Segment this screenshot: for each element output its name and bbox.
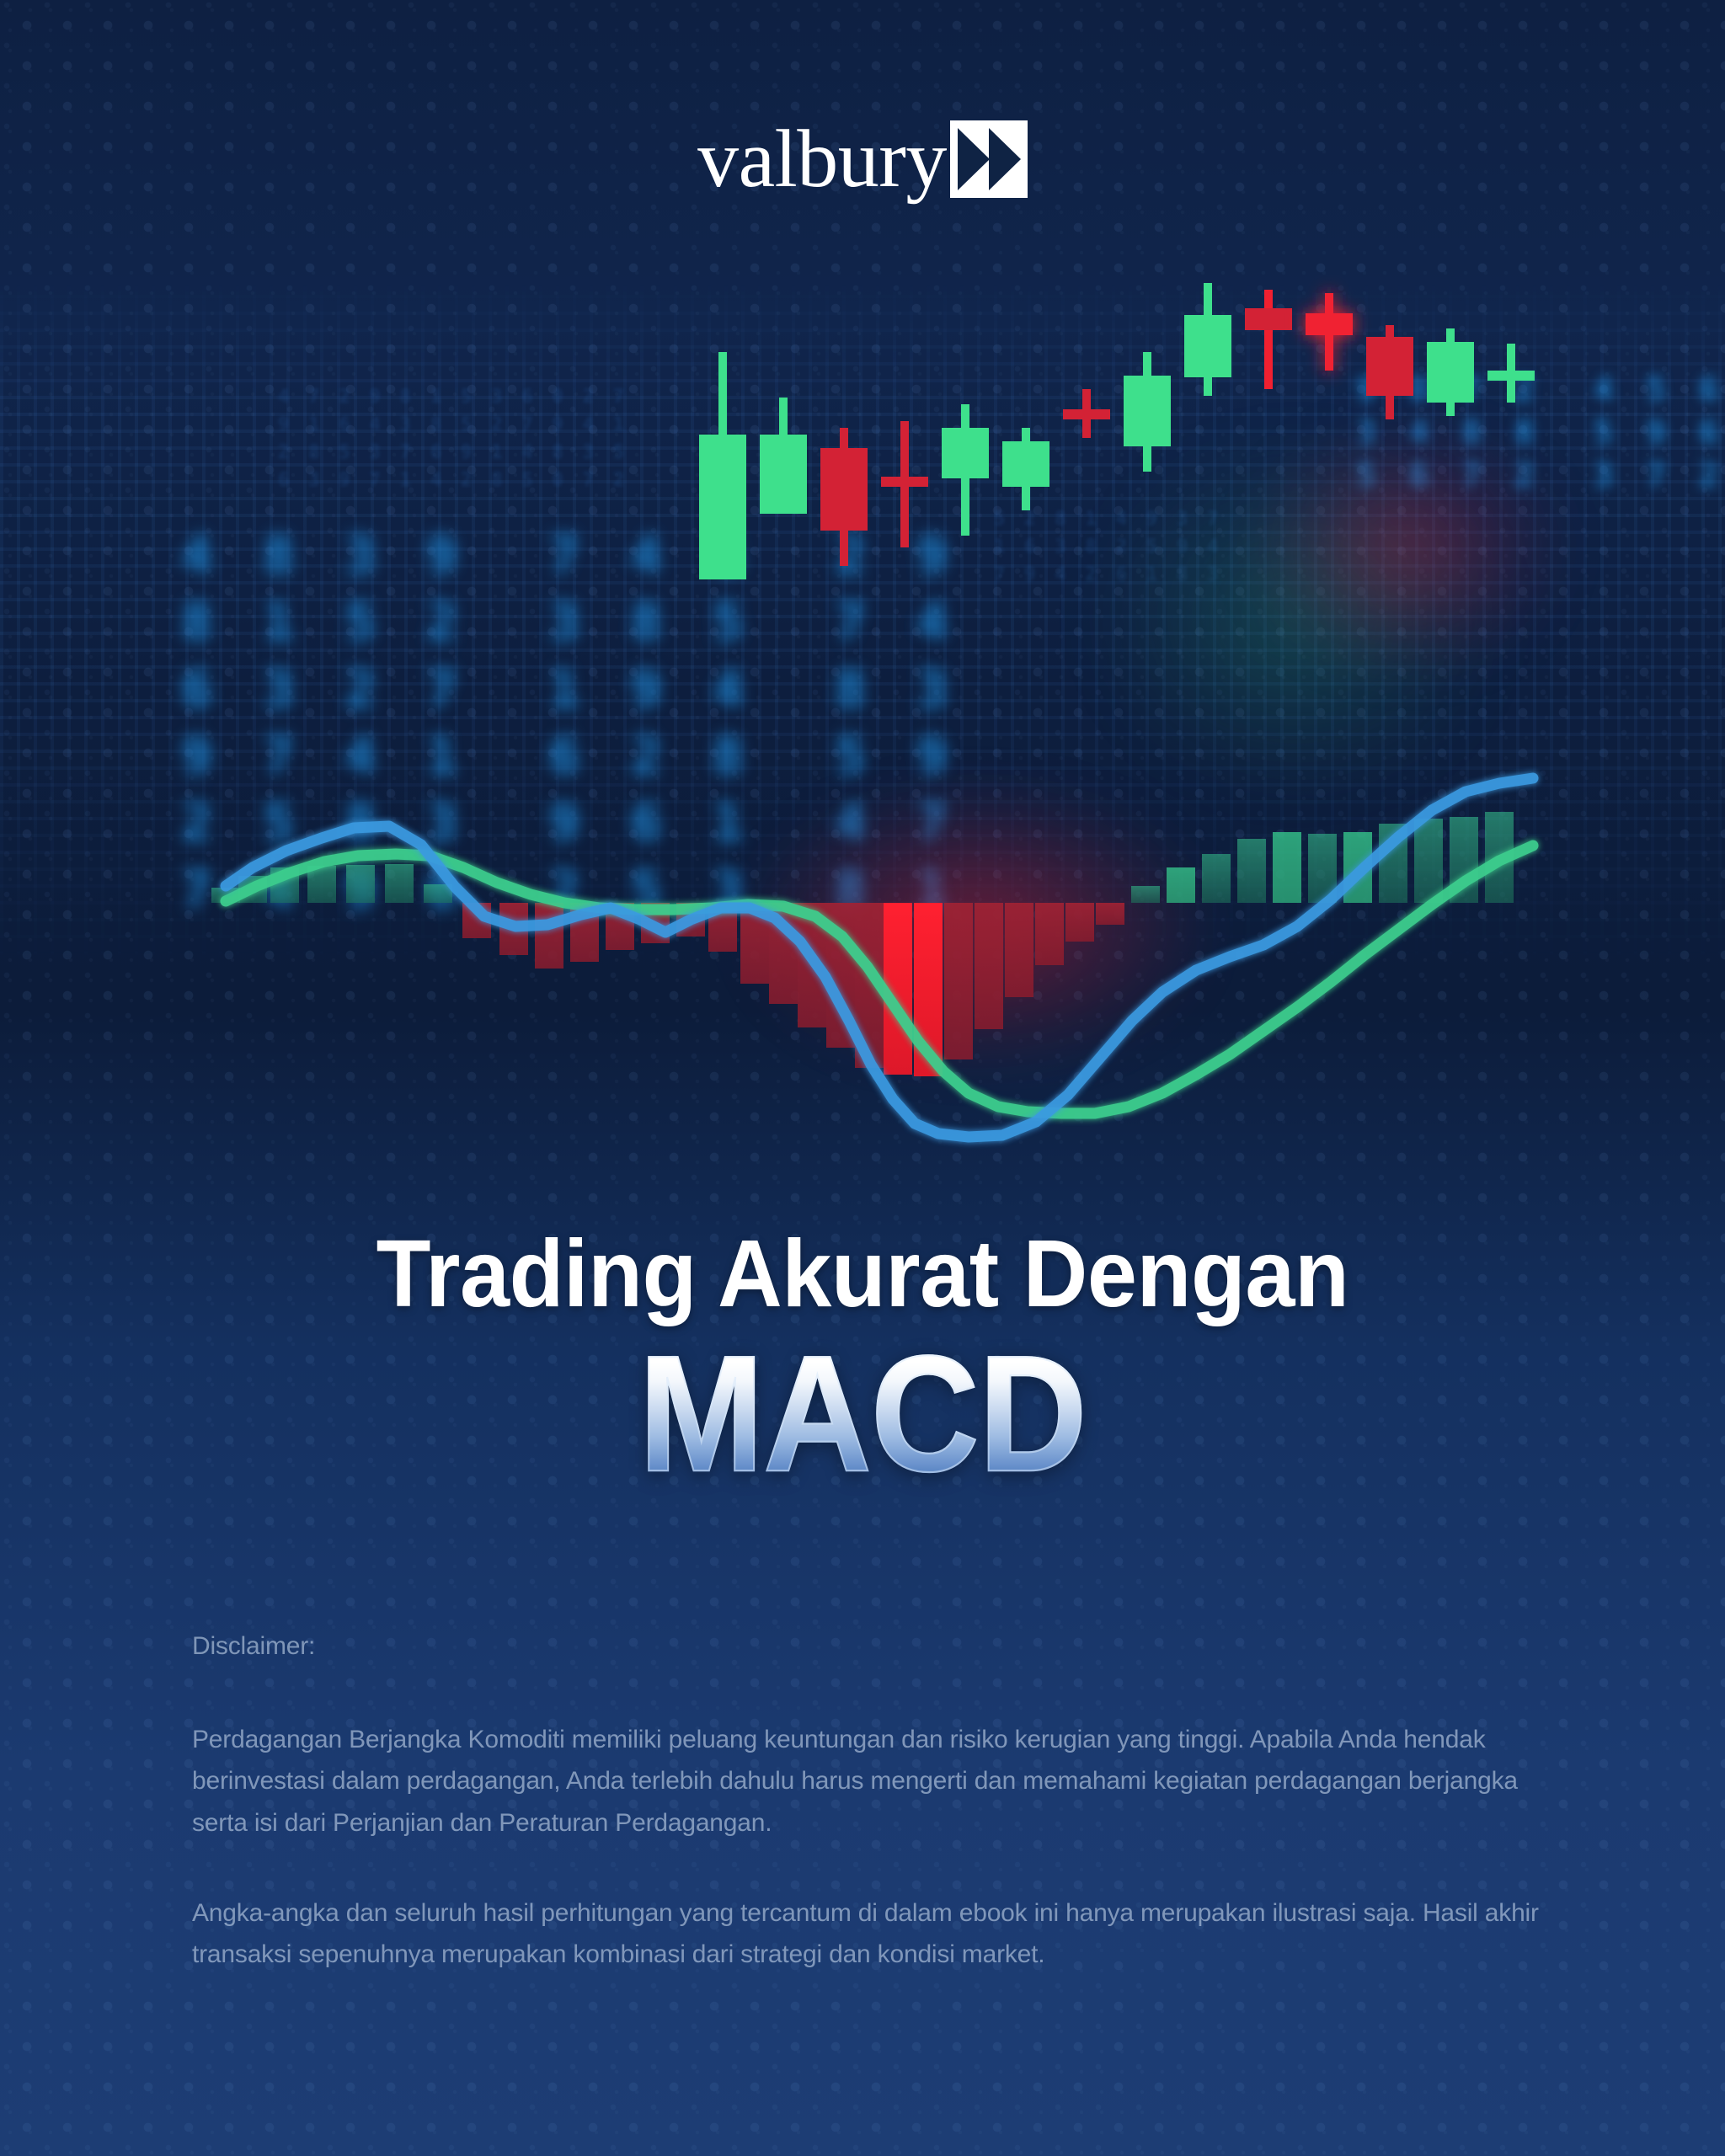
macd-histogram-bar — [975, 903, 1003, 1029]
macd-histogram-bar-accent — [1273, 832, 1301, 903]
candle-wick — [1264, 290, 1273, 389]
candle-body — [820, 448, 868, 531]
macd-histogram-bar — [1414, 819, 1443, 903]
candlestick — [1245, 290, 1292, 389]
candlestick — [1184, 283, 1231, 396]
candle-body — [1487, 371, 1535, 381]
macd-histogram-bar — [424, 884, 452, 903]
macd-histogram-bar — [1096, 903, 1124, 925]
candlestick — [1124, 352, 1171, 472]
candlestick — [820, 428, 868, 566]
candlestick — [881, 421, 928, 547]
disclaimer-label: Disclaimer: — [192, 1625, 1552, 1667]
candlestick — [1487, 344, 1535, 403]
macd-histogram-bar — [1005, 903, 1033, 997]
candle-body — [1245, 308, 1292, 330]
macd-histogram-bar — [944, 903, 973, 1059]
macd-histogram-bar — [1131, 886, 1160, 903]
candle-body — [1366, 337, 1413, 396]
candlestick — [1366, 325, 1413, 419]
page-title: Trading Akurat Dengan — [51, 1225, 1673, 1322]
brand-logo: valbury — [0, 118, 1725, 200]
macd-histogram-bar — [385, 864, 414, 903]
candlestick — [1063, 389, 1110, 438]
page-subtitle-macd: MACD — [0, 1332, 1725, 1497]
candlestick — [1306, 293, 1353, 371]
poster-page: 4 7 2 9 8 1 5 3 6 0 2 7 9 1 6 4 3 8 5 2 … — [0, 0, 1725, 2156]
macd-histogram-bar-accent — [1167, 867, 1195, 903]
candle-body — [1124, 376, 1171, 446]
candle-body — [1002, 441, 1049, 487]
candlestick — [1002, 428, 1049, 510]
candle-body — [760, 435, 807, 514]
candlestick — [699, 352, 746, 579]
candle-body — [881, 477, 928, 487]
candlestick — [760, 398, 807, 514]
disclaimer-paragraph-1: Perdagangan Berjangka Komoditi memiliki … — [192, 1719, 1552, 1844]
macd-histogram-bar — [535, 903, 563, 969]
candlestick — [942, 404, 989, 536]
brand-wordmark: valbury — [697, 118, 947, 200]
candle-body — [1184, 315, 1231, 377]
macd-histogram-bar — [1237, 839, 1266, 903]
disclaimer-block: Disclaimer: Perdagangan Berjangka Komodi… — [192, 1625, 1552, 1975]
macd-histogram-bar — [1035, 903, 1064, 965]
candlestick — [1427, 328, 1474, 416]
macd-histogram-bar — [1202, 854, 1231, 903]
macd-histogram-bar — [346, 865, 375, 903]
candlestick-series — [699, 283, 1535, 579]
candle-body — [942, 428, 989, 478]
candle-body — [1063, 409, 1110, 419]
double-chevron-right-icon — [950, 120, 1028, 198]
candle-body — [1427, 342, 1474, 403]
headline-block: Trading Akurat Dengan MACD — [0, 1225, 1725, 1488]
candle-body — [1306, 313, 1353, 335]
disclaimer-paragraph-2: Angka-angka dan seluruh hasil perhitunga… — [192, 1892, 1552, 1975]
candle-body — [699, 435, 746, 579]
macd-histogram-bar — [1065, 903, 1094, 942]
